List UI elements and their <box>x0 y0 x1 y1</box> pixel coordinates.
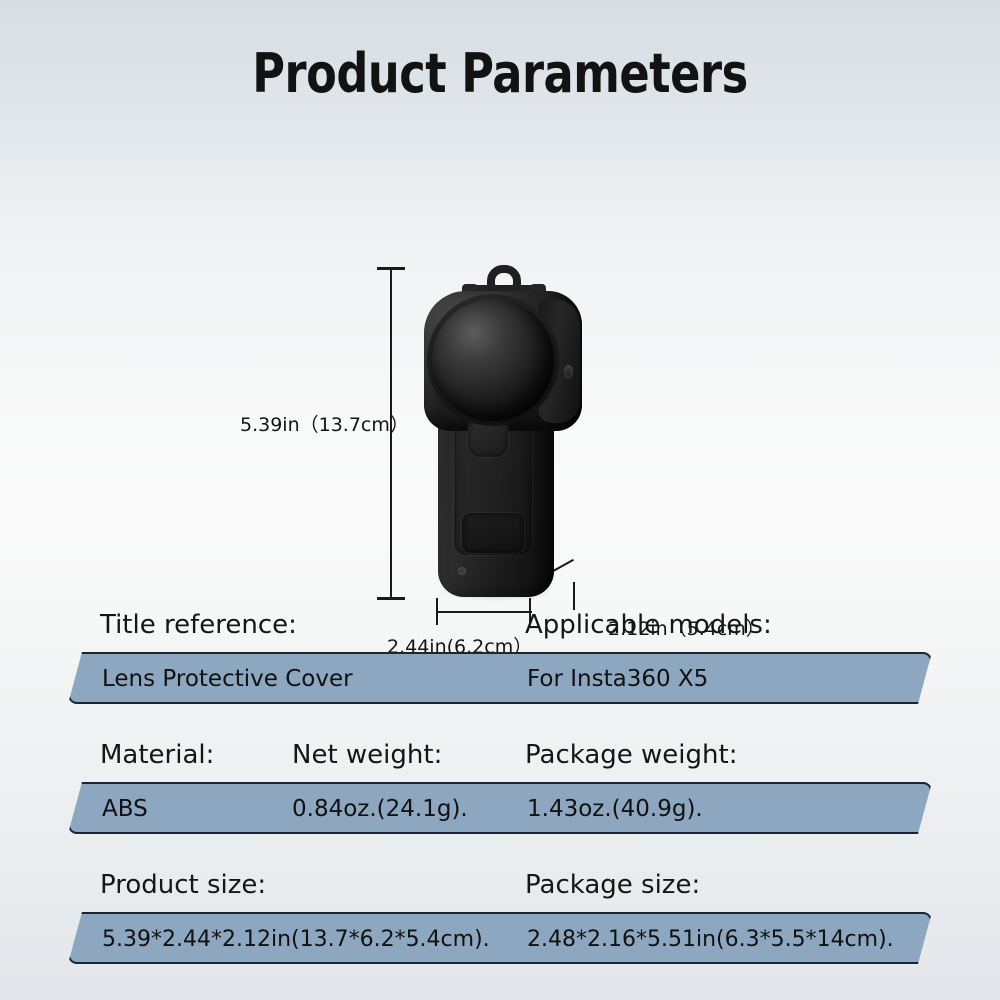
spec-value-applicable-models: For Insta360 X5 <box>527 666 708 692</box>
spec-row-labels: Product size: Package size: <box>0 860 1000 908</box>
lens-cover-graphic <box>418 265 588 605</box>
spec-row-material-weight: Material: Net weight: Package weight: AB… <box>0 730 1000 860</box>
spec-label-net-weight: Net weight: <box>292 740 442 770</box>
lanyard-loop-icon <box>487 265 521 293</box>
cover-body-screen <box>462 513 524 553</box>
spec-bar-inner: ABS 0.84oz.(24.1g). 1.43oz.(40.9g). <box>70 784 930 832</box>
spec-bar-inner: 5.39*2.44*2.12in(13.7*6.2*5.4cm). 2.48*2… <box>70 914 930 962</box>
height-dimension-label: 5.39in（13.7cm） <box>240 410 409 437</box>
spec-label-title-reference: Title reference: <box>100 610 297 640</box>
page-title: Product Parameters <box>40 42 960 105</box>
spec-row-sizes: Product size: Package size: 5.39*2.44*2.… <box>0 860 1000 990</box>
spec-value-net-weight: 0.84oz.(24.1g). <box>292 796 468 822</box>
spec-value-package-weight: 1.43oz.(40.9g). <box>527 796 703 822</box>
cover-bottom-dot <box>458 567 466 575</box>
height-dimension-cap-top <box>377 267 405 270</box>
spec-value-bar: 5.39*2.44*2.12in(13.7*6.2*5.4cm). 2.48*2… <box>68 912 932 964</box>
spec-value-product-size: 5.39*2.44*2.12in(13.7*6.2*5.4cm). <box>102 927 490 952</box>
spec-label-product-size: Product size: <box>100 870 266 900</box>
spec-value-package-size: 2.48*2.16*5.51in(6.3*5.5*14cm). <box>527 927 894 952</box>
spec-value-title-reference: Lens Protective Cover <box>102 666 353 692</box>
spec-value-bar: ABS 0.84oz.(24.1g). 1.43oz.(40.9g). <box>68 782 932 834</box>
spec-row-labels: Title reference: Applicable models: <box>0 600 1000 648</box>
spec-label-applicable-models: Applicable models: <box>525 610 772 640</box>
spec-value-material: ABS <box>102 796 148 822</box>
product-illustration: 5.39in（13.7cm） 2.44in(6.2cm） 2.12in（5.4c… <box>0 120 1000 560</box>
spec-value-bar: Lens Protective Cover For Insta360 X5 <box>68 652 932 704</box>
cover-side-dot <box>564 365 573 379</box>
spec-table: Title reference: Applicable models: Lens… <box>0 600 1000 990</box>
spec-bar-inner: Lens Protective Cover For Insta360 X5 <box>70 654 930 702</box>
spec-label-package-weight: Package weight: <box>525 740 737 770</box>
spec-label-material: Material: <box>100 740 214 770</box>
lens-dome <box>432 299 554 421</box>
spec-label-package-size: Package size: <box>525 870 700 900</box>
spec-row-title-reference: Title reference: Applicable models: Lens… <box>0 600 1000 730</box>
spec-row-labels: Material: Net weight: Package weight: <box>0 730 1000 778</box>
